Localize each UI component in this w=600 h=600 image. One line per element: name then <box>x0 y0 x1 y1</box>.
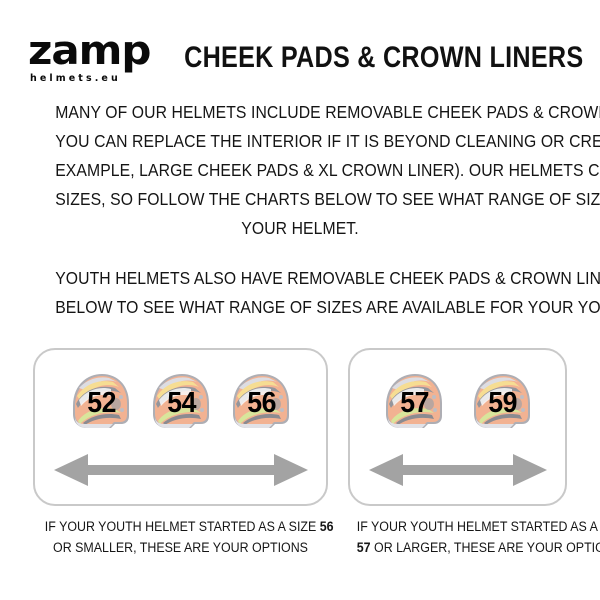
helmet-size-option: 59 <box>466 366 538 438</box>
paragraph-line: YOUR HELMET. <box>55 214 545 243</box>
caption-youth-large: IF YOUR YOUTH HELMET STARTED AS A SIZE 5… <box>348 516 567 566</box>
caption-emphasis: 57 <box>357 540 371 555</box>
brand-tagline: helmets.eu <box>30 73 121 84</box>
caption-line: IF YOUR YOUTH HELMET STARTED AS A SIZE 5… <box>45 516 316 537</box>
range-arrow <box>35 452 326 488</box>
chart-captions: IF YOUR YOUTH HELMET STARTED AS A SIZE 5… <box>33 516 567 566</box>
zamp-logo: zamp helmets.eu <box>0 32 145 84</box>
caption-line: 57 OR LARGER, THESE ARE YOUR OPTIONS <box>357 537 558 558</box>
paragraph-line: SIZES, SO FOLLOW THE CHARTS BELOW TO SEE… <box>55 185 545 214</box>
size-chart-youth-small: 52 54 <box>33 348 328 506</box>
double-headed-arrow-icon <box>52 452 310 488</box>
size-chart-group: 52 54 <box>33 348 567 506</box>
size-chart-youth-large: 57 59 <box>348 348 567 506</box>
helmet-size-option: 52 <box>65 366 137 438</box>
caption-youth-small: IF YOUR YOUTH HELMET STARTED AS A SIZE 5… <box>33 516 328 566</box>
caption-text: OR SMALLER, THESE ARE YOUR OPTIONS <box>53 540 308 555</box>
brand-wordmark: zamp <box>28 32 150 70</box>
page-header: zamp helmets.eu CHEEK PADS & CROWN LINER… <box>0 28 600 88</box>
helmet-size-label: 56 <box>247 387 276 420</box>
range-arrow <box>350 452 565 488</box>
helmet-size-option: 56 <box>225 366 297 438</box>
helmet-row: 52 54 <box>65 366 297 438</box>
intro-paragraph-2: YOUTH HELMETS ALSO HAVE REMOVABLE CHEEK … <box>28 264 572 322</box>
caption-text: IF YOUR YOUTH HELMET STARTED AS A SIZE <box>357 519 600 534</box>
page-title: CHEEK PADS & CROWN LINERS <box>184 41 595 75</box>
paragraph-line: YOUTH HELMETS ALSO HAVE REMOVABLE CHEEK … <box>55 264 545 293</box>
helmet-size-label: 59 <box>488 387 517 420</box>
caption-text: OR LARGER, THESE ARE YOUR OPTIONS <box>371 540 600 555</box>
helmet-size-option: 57 <box>378 366 450 438</box>
paragraph-line: BELOW TO SEE WHAT RANGE OF SIZES ARE AVA… <box>55 293 545 322</box>
paragraph-line: MANY OF OUR HELMETS INCLUDE REMOVABLE CH… <box>55 98 545 127</box>
double-headed-arrow-icon <box>367 452 549 488</box>
helmet-size-option: 54 <box>145 366 217 438</box>
caption-line: OR SMALLER, THESE ARE YOUR OPTIONS <box>45 537 316 558</box>
helmet-size-label: 54 <box>167 387 196 420</box>
caption-line: IF YOUR YOUTH HELMET STARTED AS A SIZE <box>357 516 558 537</box>
paragraph-line: YOU CAN REPLACE THE INTERIOR IF IT IS BE… <box>55 127 545 156</box>
helmet-size-label: 57 <box>400 387 429 420</box>
helmet-row: 57 59 <box>378 366 538 438</box>
paragraph-line: EXAMPLE, LARGE CHEEK PADS & XL CROWN LIN… <box>55 156 545 185</box>
caption-emphasis: 56 <box>320 519 334 534</box>
helmet-size-label: 52 <box>87 387 116 420</box>
caption-text: IF YOUR YOUTH HELMET STARTED AS A SIZE <box>45 519 320 534</box>
intro-paragraph-1: MANY OF OUR HELMETS INCLUDE REMOVABLE CH… <box>28 98 572 243</box>
